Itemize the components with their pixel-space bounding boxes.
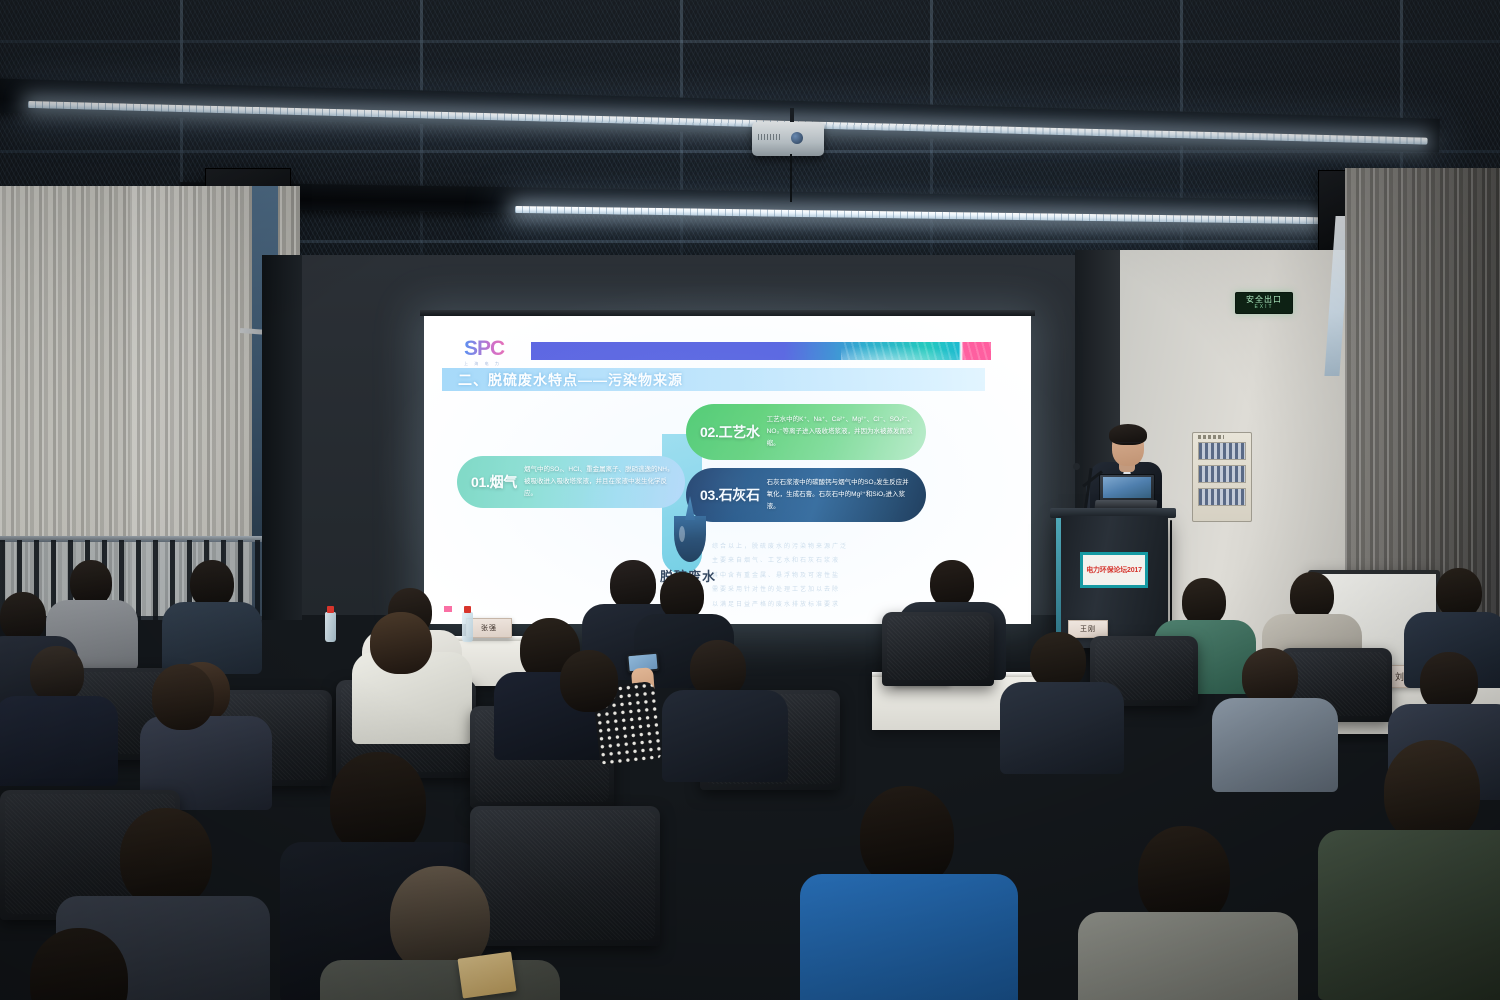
slide-header-bar [531, 342, 991, 360]
exit-sign-label-cn: 安全出口 [1246, 296, 1282, 304]
slide-footer-accent [444, 606, 452, 612]
podium-banner: 电力环保论坛2017 [1080, 552, 1148, 588]
breaker-row[interactable] [1198, 465, 1246, 483]
podium-edge-trim [1056, 518, 1061, 648]
slide-logo-subtext: 上 海 电 力 [464, 361, 516, 367]
placard-name: 张强 [481, 623, 497, 633]
exit-sign: 安全出口 EXIT [1235, 292, 1293, 314]
projector-vent [758, 134, 780, 140]
dark-wall-column [262, 255, 302, 620]
slide-logo-text: SPC [464, 338, 516, 359]
bubble-01-label: 烟气 [490, 474, 517, 490]
bubble-03-number: 03. [700, 487, 719, 503]
faint-line: 需要采用针对性的处理工艺加以去除 [712, 583, 962, 597]
conference-room-scene: 安全出口 EXIT SPC 上 海 电 力 二、脱硫废水特点——污染物来源 综合… [0, 0, 1500, 1000]
bubble-01-body: 烟气中的SO₂、HCI、重金属离子、脱硝逃逸的NH₃被吸收进入吸收塔浆液，并且在… [517, 464, 673, 500]
bubble-02-body: 工艺水中的K⁺、Na⁺、Ca²⁺、Mg²⁺、CI⁻、SO₄²⁻、NO₃⁻等离子进… [760, 414, 914, 450]
conference-booklet[interactable] [457, 951, 516, 998]
placard-name: 王刚 [1080, 624, 1096, 634]
slide-bubble-02: 02.工艺水 工艺水中的K⁺、Na⁺、Ca²⁺、Mg²⁺、CI⁻、SO₄²⁻、N… [686, 404, 926, 460]
slide-logo: SPC 上 海 电 力 [464, 338, 516, 367]
audience-chair[interactable] [882, 612, 994, 686]
bubble-02-label: 工艺水 [719, 424, 760, 440]
slide-title: 二、脱硫废水特点——污染物来源 [458, 370, 683, 390]
bubble-01-number: 01. [471, 474, 490, 490]
slide-bubble-01: 01.烟气 烟气中的SO₂、HCI、重金属离子、脱硝逃逸的NH₃被吸收进入吸收塔… [457, 456, 685, 508]
projector-lens-icon [791, 132, 803, 144]
bubble-03-heading: 03.石灰石 [700, 485, 760, 505]
microphone-head-icon [1073, 463, 1080, 470]
droplet-highlight [679, 526, 685, 542]
wall-electrical-panel[interactable] [1192, 432, 1252, 522]
audience-chair[interactable] [470, 806, 660, 946]
projector-cable [790, 154, 792, 202]
laptop-display [1103, 477, 1151, 498]
faint-line: 其中含有重金属、悬浮物及可溶性盐 [712, 569, 962, 583]
ceiling-grid-line [0, 150, 1500, 153]
breaker-row[interactable] [1198, 442, 1246, 460]
bubble-03-label: 石灰石 [719, 487, 760, 503]
slide-bubble-03: 03.石灰石 石灰石浆液中的碳酸钙与烟气中的SO₂发生反应并氧化，生成石膏。石灰… [686, 468, 926, 522]
speaker-glasses-icon [1116, 442, 1141, 447]
bubble-03-body: 石灰石浆液中的碳酸钙与烟气中的SO₂发生反应并氧化，生成石膏。石灰石中的Mg²⁺… [760, 477, 914, 513]
bubble-02-heading: 02.工艺水 [700, 422, 760, 442]
faint-line: 主要来自烟气、工艺水和石灰石浆液 [712, 554, 962, 568]
exit-sign-label-en: EXIT [1254, 304, 1273, 311]
faint-line: 综合以上，脱硫废水的污染物来源广泛 [712, 540, 962, 554]
breaker-row[interactable] [1198, 488, 1246, 506]
ceiling-grid-line [0, 40, 1500, 43]
water-bottle [462, 612, 473, 642]
podium-banner-text: 电力环保论坛2017 [1086, 565, 1142, 575]
ceiling-projector [752, 122, 824, 156]
water-bottle [325, 612, 336, 642]
slide-header-bar-texture [841, 342, 991, 360]
presenter-laptop-screen[interactable] [1099, 474, 1155, 502]
bubble-02-number: 02. [700, 424, 719, 440]
bubble-01-heading: 01.烟气 [471, 472, 517, 492]
banner-year: 2017 [1127, 567, 1142, 574]
panel-label [1198, 435, 1224, 439]
banner-title: 电力环保论坛 [1086, 567, 1127, 574]
